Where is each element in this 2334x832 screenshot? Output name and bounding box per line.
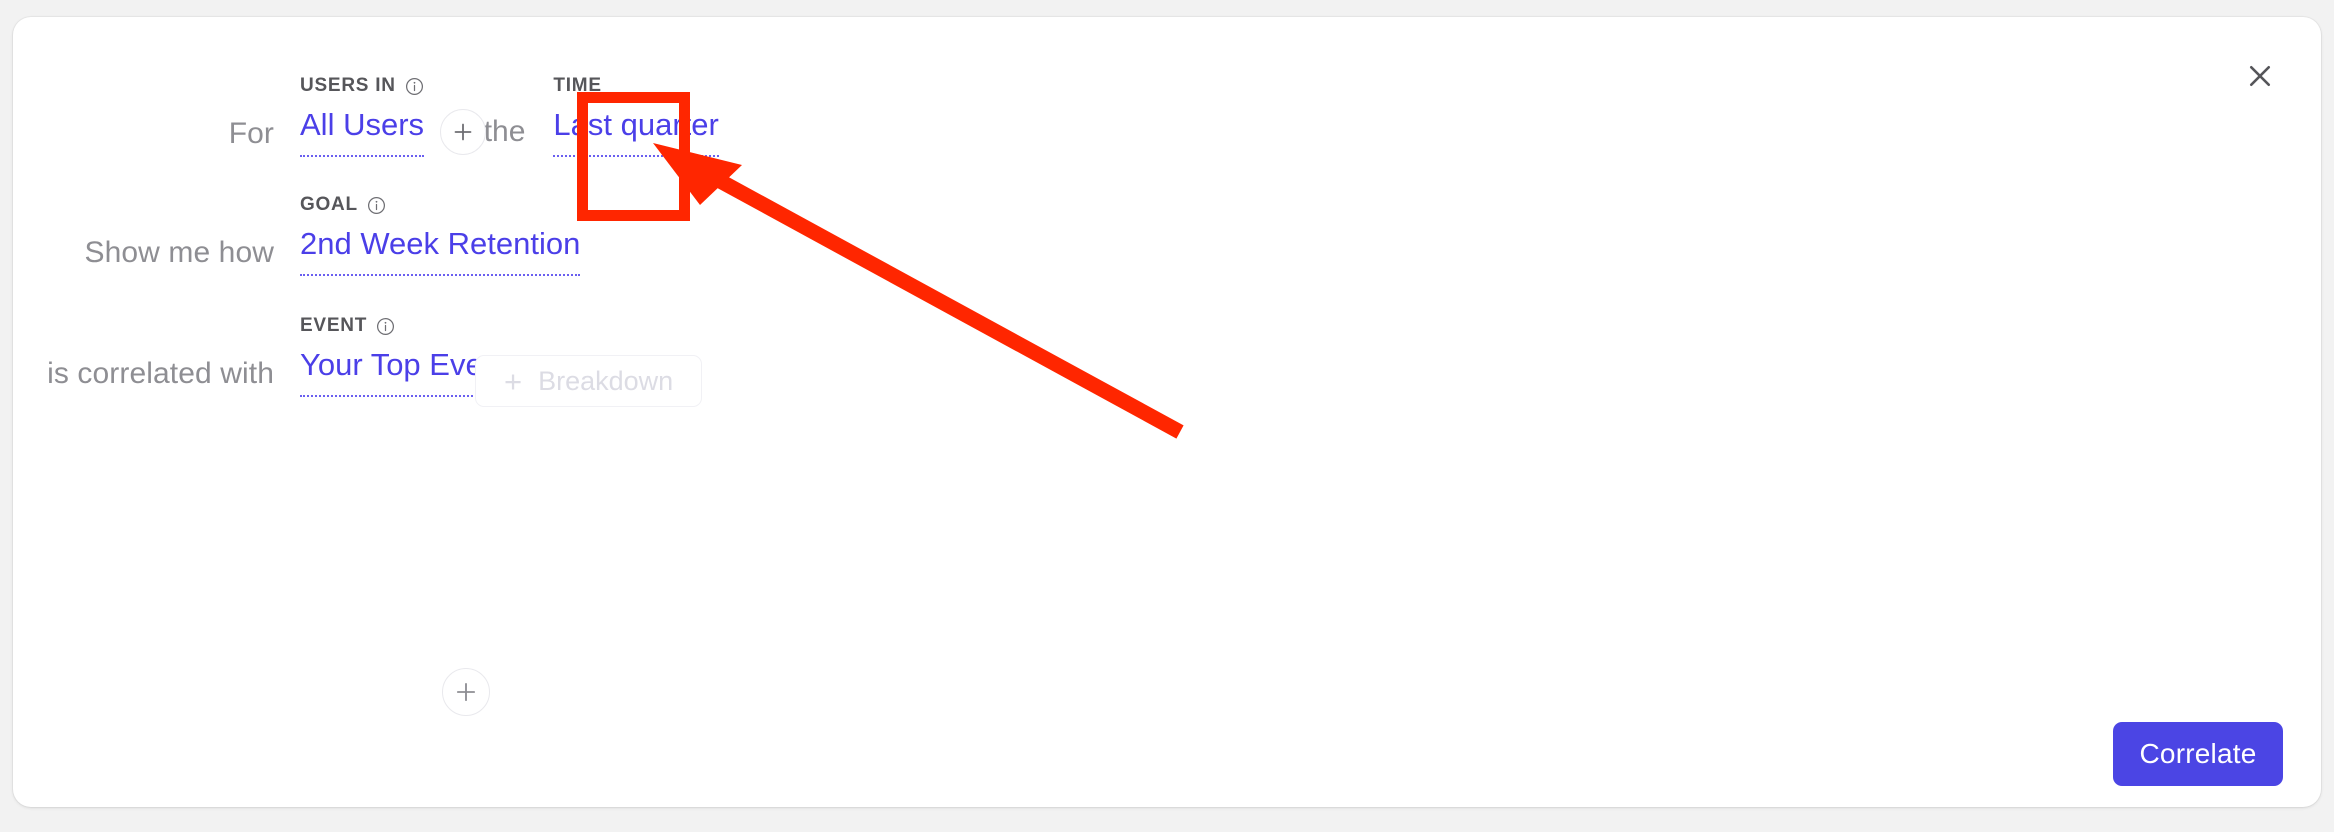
info-icon[interactable] bbox=[367, 196, 386, 215]
screen-root: For USERS IN All Users bbox=[0, 0, 2334, 832]
breakdown-label: Breakdown bbox=[538, 366, 673, 397]
field-goal: GOAL 2nd Week Retention bbox=[300, 228, 580, 276]
correlate-button[interactable]: Correlate bbox=[2113, 722, 2283, 786]
field-label-goal: GOAL bbox=[300, 194, 386, 216]
field-value-time[interactable]: Last quarter bbox=[553, 109, 718, 157]
add-user-filter-button[interactable] bbox=[440, 109, 486, 155]
field-label-users-in: USERS IN bbox=[300, 75, 424, 97]
add-breakdown-button[interactable]: + Breakdown bbox=[475, 355, 702, 407]
row-prefix-is-correlated-with: is correlated with bbox=[47, 357, 300, 391]
query-row-event: is correlated with EVENT Your Top Events… bbox=[300, 335, 524, 397]
info-icon[interactable] bbox=[376, 317, 395, 336]
plus-icon bbox=[453, 679, 479, 705]
row-prefix-for: For bbox=[229, 117, 300, 151]
plus-icon: + bbox=[504, 366, 522, 397]
info-icon[interactable] bbox=[405, 77, 424, 96]
field-time: TIME Last quarter bbox=[553, 109, 718, 157]
close-icon bbox=[2245, 61, 2275, 91]
field-label-text: TIME bbox=[553, 75, 601, 97]
plus-icon bbox=[451, 120, 475, 144]
correlation-builder-card: For USERS IN All Users bbox=[13, 17, 2321, 807]
add-query-row-button[interactable] bbox=[442, 668, 490, 716]
field-label-text: GOAL bbox=[300, 194, 358, 216]
field-label-text: USERS IN bbox=[300, 75, 396, 97]
field-label-time: TIME bbox=[553, 75, 601, 97]
close-button[interactable] bbox=[2239, 55, 2281, 97]
field-event: EVENT Your Top Events + Breakdown bbox=[300, 349, 524, 397]
field-label-text: EVENT bbox=[300, 315, 367, 337]
field-label-event: EVENT bbox=[300, 315, 395, 337]
row-prefix-show-me-how: Show me how bbox=[84, 236, 300, 270]
field-users-in: USERS IN All Users bbox=[300, 109, 424, 157]
query-row-goal: Show me how GOAL 2nd Week Retention bbox=[300, 214, 580, 276]
query-row-users: For USERS IN All Users bbox=[300, 95, 719, 157]
field-value-users-in[interactable]: All Users bbox=[300, 109, 424, 157]
field-value-goal[interactable]: 2nd Week Retention bbox=[300, 228, 580, 276]
